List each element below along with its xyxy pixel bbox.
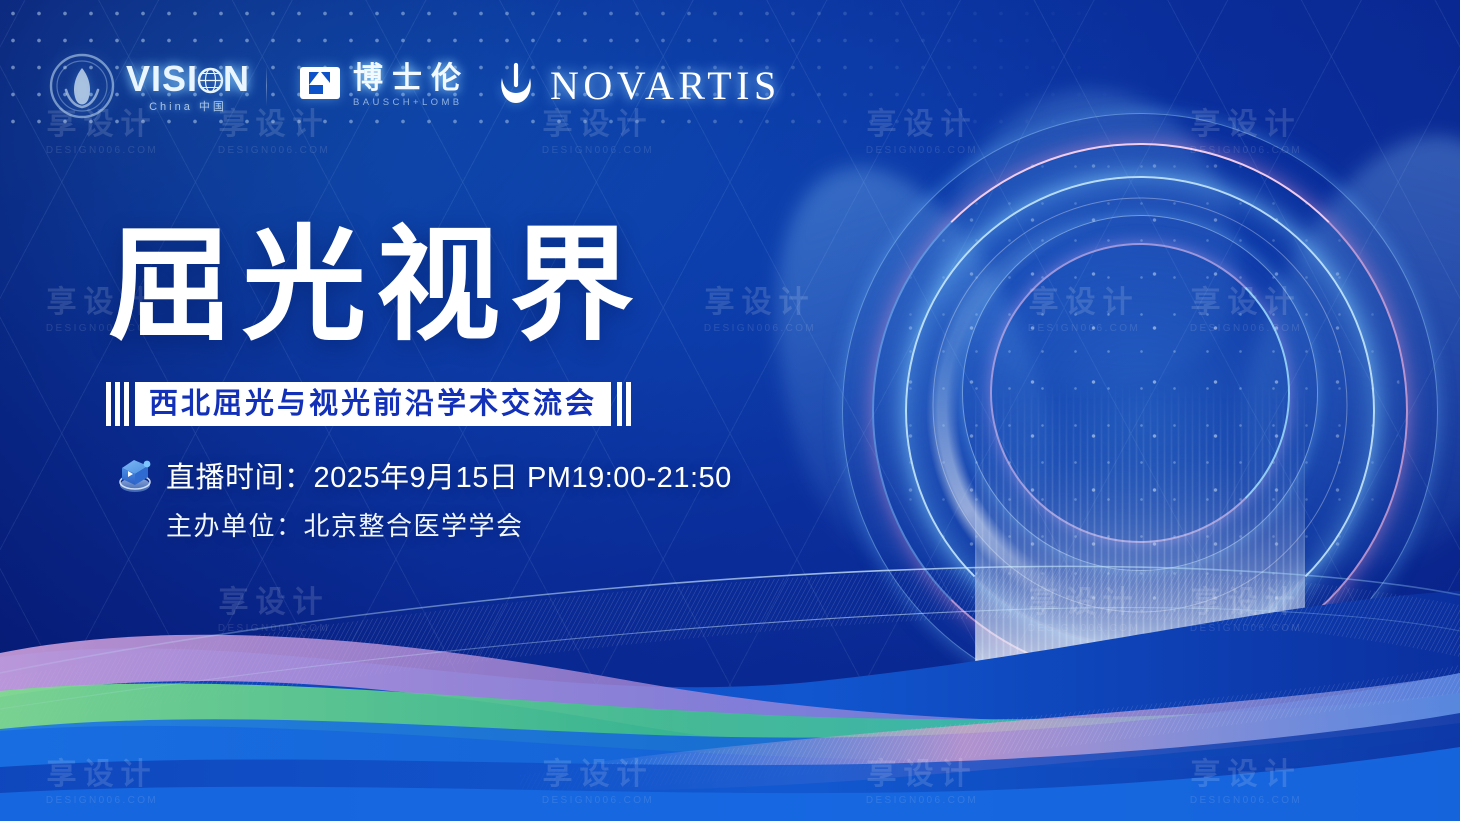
bausch-lomb-mark-icon (297, 63, 343, 109)
watermark-tile: 享设计 DESIGN006.COM (1156, 110, 1336, 156)
watermark-main: 享设计 (1156, 288, 1336, 318)
globe-icon (197, 61, 224, 88)
watermark-main: 享设计 (832, 110, 1012, 140)
watermark-main: 享设计 (1156, 110, 1336, 140)
watermark-tile: 享设计 DESIGN006.COM (994, 288, 1174, 334)
watermark-sub: DESIGN006.COM (670, 324, 850, 334)
watermark-tile: 享设计 DESIGN006.COM (670, 288, 850, 334)
petal-shape-middle (930, 80, 1250, 400)
banner-ticks-right (617, 382, 631, 426)
bausch-lomb-name-en: BAUSCH+LOMB (353, 98, 470, 108)
organizer-text: 主办单位：北京整合医学学会 (166, 506, 524, 543)
subtitle-plate: 西北屈光与视光前沿学术交流会 (135, 382, 611, 426)
watermark-sub: DESIGN006.COM (184, 146, 364, 156)
watermark-main: 享设计 (994, 288, 1174, 318)
novartis-logo: NOVARTIS (496, 62, 781, 110)
watermark-sub: DESIGN006.COM (12, 146, 192, 156)
live-time-row: 直播时间：2025年9月15日 PM19:00-21:50 (112, 452, 732, 498)
petal-shape-left (721, 132, 1089, 609)
bottom-ribbon-waves (0, 561, 1460, 821)
subtitle-banner: 西北屈光与视光前沿学术交流会 (106, 382, 631, 426)
tick-bar (124, 382, 129, 426)
tick-bar (617, 382, 622, 426)
bausch-lomb-logo: 博士伦 BAUSCH+LOMB (297, 63, 470, 109)
banner-ticks-left (106, 382, 129, 426)
petal-shape-right (1205, 101, 1460, 598)
page-title: 屈光视界 (108, 224, 644, 348)
sponsor-logo-bar: VISI N China 中国 (46, 44, 781, 128)
vision-word-part-2: N (223, 58, 250, 99)
vision-china-emblem-icon (46, 50, 118, 122)
logo-divider (266, 66, 267, 106)
portal-ring-thin (933, 198, 1348, 613)
watermark-sub: DESIGN006.COM (1156, 324, 1336, 334)
tick-bar (626, 382, 631, 426)
watermark-main: 享设计 (670, 288, 850, 318)
organizer-row: 主办单位：北京整合医学学会 (112, 502, 732, 546)
vision-wordmark: VISI N (126, 58, 250, 100)
bausch-lomb-name-cn: 博士伦 (353, 64, 470, 94)
bausch-lomb-text: 博士伦 BAUSCH+LOMB (353, 64, 470, 108)
watermark-tile: 享设计 DESIGN006.COM (832, 110, 1012, 156)
event-info-block: 直播时间：2025年9月15日 PM19:00-21:50 主办单位：北京整合医… (112, 452, 732, 546)
novartis-wordmark: NOVARTIS (550, 66, 781, 106)
watermark-sub: DESIGN006.COM (832, 146, 1012, 156)
vision-logo: VISI N China 中国 (126, 58, 250, 114)
novartis-flame-icon (496, 62, 536, 110)
watermark-sub: DESIGN006.COM (508, 146, 688, 156)
vision-word-part-1: VISI (126, 58, 198, 99)
watermark-sub: DESIGN006.COM (1156, 146, 1336, 156)
vision-sub-label: China 中国 (149, 98, 227, 114)
portal-ring-inner (990, 243, 1290, 543)
tick-bar (115, 382, 120, 426)
watermark-sub: DESIGN006.COM (994, 324, 1174, 334)
page-subtitle: 西北屈光与视光前沿学术交流会 (149, 390, 597, 419)
live-broadcast-cube-icon (112, 452, 158, 498)
tick-bar (106, 382, 111, 426)
poster-canvas: 享设计 DESIGN006.COM 享设计 DESIGN006.COM 享设计 … (0, 0, 1460, 821)
live-time-text: 直播时间：2025年9月15日 PM19:00-21:50 (166, 454, 732, 496)
portal-ring-inner-thin (962, 215, 1318, 571)
watermark-tile: 享设计 DESIGN006.COM (1156, 288, 1336, 334)
